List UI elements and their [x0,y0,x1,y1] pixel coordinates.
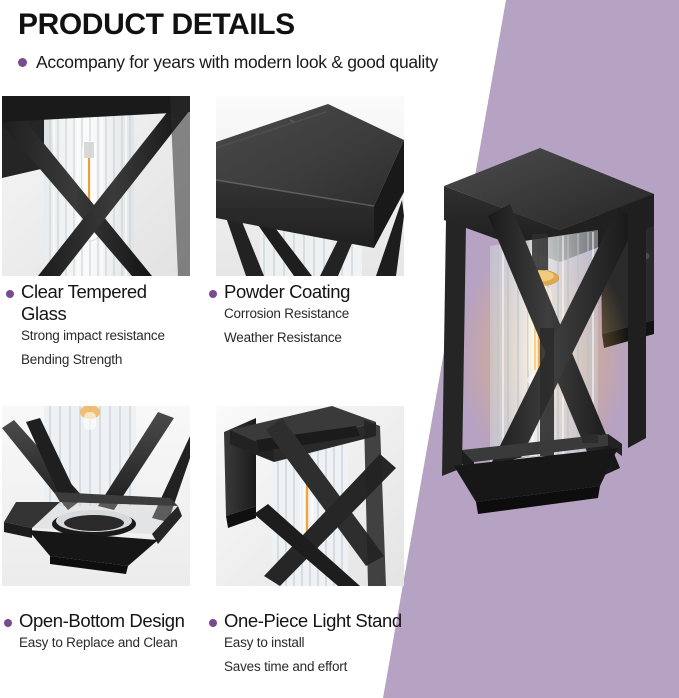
feature-caption-one-piece-light-stand: One-Piece Light Stand Easy to install Sa… [209,610,424,674]
feature-image-powder-coating[interactable] [216,96,404,276]
feature-image-open-bottom-design[interactable] [2,406,190,586]
bullet-dot-icon [6,290,14,298]
feature-heading: One-Piece Light Stand [209,610,424,632]
subtitle-text: Accompany for years with modern look & g… [36,52,438,73]
feature-title: Open-Bottom Design [19,610,185,632]
bullet-dot-icon [18,58,27,67]
feature-title: One-Piece Light Stand [224,610,402,632]
feature-subtext-2: Weather Resistance [224,330,409,345]
feature-subtext-1: Easy to install [224,635,424,650]
feature-title: Powder Coating [224,281,350,303]
feature-subtext-2: Bending Strength [21,352,196,367]
hero-product-image[interactable] [432,138,670,518]
feature-heading: Open-Bottom Design [4,610,209,632]
bullet-dot-icon [209,619,217,627]
feature-image-clear-tempered-glass[interactable] [2,96,190,276]
feature-caption-open-bottom-design: Open-Bottom Design Easy to Replace and C… [4,610,209,650]
subtitle-row: Accompany for years with modern look & g… [18,52,438,73]
feature-title: Clear Tempered Glass [21,281,196,325]
feature-heading: Powder Coating [209,281,409,303]
bullet-dot-icon [209,290,217,298]
bullet-dot-icon [4,619,12,627]
header: PRODUCT DETAILS Accompany for years with… [18,8,438,73]
feature-subtext-2: Saves time and effort [224,659,424,674]
feature-heading: Clear Tempered Glass [6,281,196,325]
feature-subtext-1: Strong impact resistance [21,328,196,343]
feature-image-one-piece-light-stand[interactable] [216,406,404,586]
page-title: PRODUCT DETAILS [18,8,438,43]
feature-subtext-1: Easy to Replace and Clean [19,635,209,650]
feature-subtext-1: Corrosion Resistance [224,306,409,321]
feature-caption-clear-tempered-glass: Clear Tempered Glass Strong impact resis… [6,281,196,367]
feature-caption-powder-coating: Powder Coating Corrosion Resistance Weat… [209,281,409,345]
